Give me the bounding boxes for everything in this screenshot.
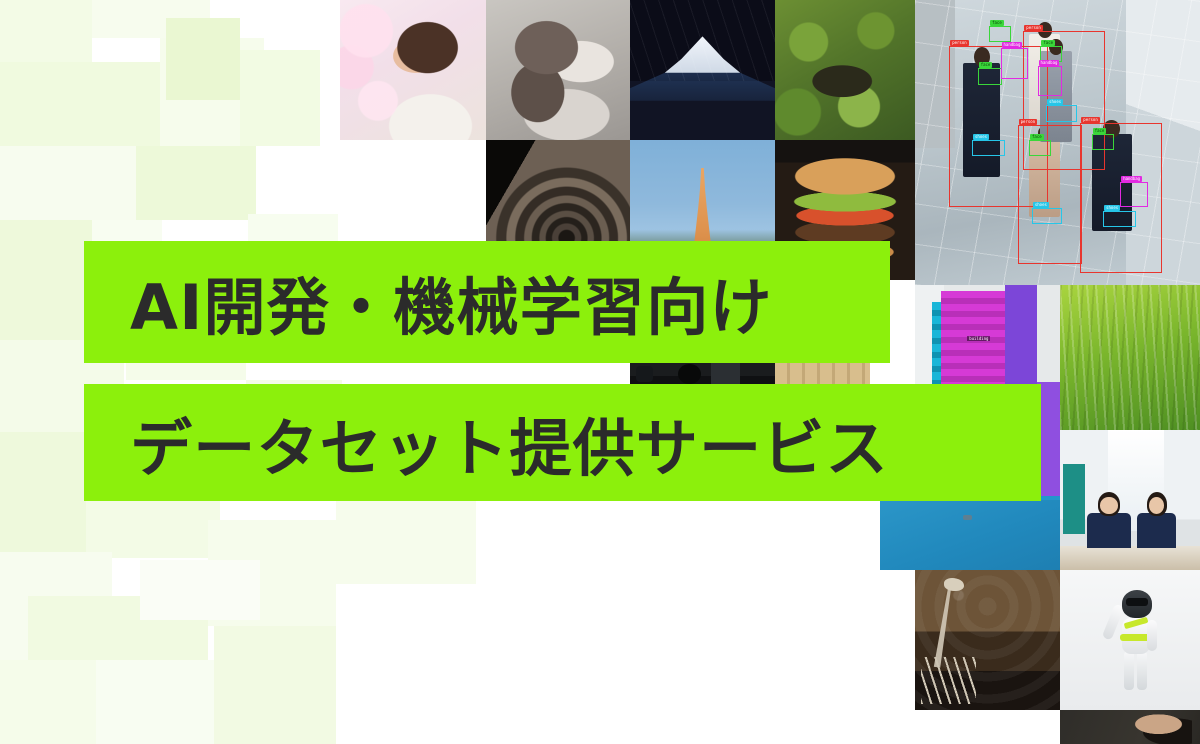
- detection-label: face: [1041, 40, 1055, 46]
- truck-part: [711, 362, 740, 384]
- detection-label: person: [1019, 119, 1037, 125]
- photo-frog-moss: [775, 0, 915, 140]
- truck-part: [678, 364, 701, 384]
- detection-box: handbag: [1001, 48, 1029, 79]
- photo-truck-machinery-art: [630, 360, 775, 386]
- student-uniform: [1137, 513, 1176, 548]
- detection-label: shoes: [1104, 205, 1120, 211]
- headline-banner-secondary: データセット提供サービス: [84, 384, 1041, 501]
- photo-grass-macro: [1060, 285, 1200, 430]
- dinosaur-ribs: [921, 657, 976, 705]
- detection-label: shoes: [1047, 99, 1063, 105]
- photo-wood-pallets-art: [775, 360, 870, 386]
- aerial-object: [963, 515, 972, 520]
- student-face: [1149, 497, 1164, 514]
- detection-box: handbag: [1120, 182, 1148, 207]
- dinosaur-skull: [944, 578, 964, 591]
- photo-classroom-students: [1060, 430, 1200, 570]
- photo-aerial-water: [880, 500, 1060, 570]
- detection-box: face: [1092, 134, 1114, 150]
- headline-line-1: AI開発・機械学習向け: [130, 257, 773, 347]
- photo-person-detection-art: personpersonpersonpersonfacefacefaceface…: [915, 0, 1200, 285]
- detection-label: face: [990, 20, 1004, 26]
- photo-grass-macro-art: [1060, 285, 1200, 430]
- photo-sakura-portrait-art: [340, 0, 486, 140]
- photo-dinosaur-skeleton: [915, 570, 1060, 710]
- classroom-desk: [1060, 546, 1200, 570]
- fuji-base: [630, 56, 775, 101]
- detection-label: person: [1081, 117, 1099, 123]
- photo-dinosaur-skeleton-art: [915, 570, 1060, 710]
- truck-part: [636, 366, 653, 382]
- robot-armr: [1147, 620, 1157, 651]
- photo-person-detection: personpersonpersonpersonfacefacefaceface…: [915, 0, 1200, 285]
- classroom-door: [1063, 464, 1085, 534]
- detection-label: person: [950, 40, 968, 46]
- photo-truck-machinery: [630, 360, 775, 386]
- detection-box: shoes: [1046, 105, 1077, 121]
- photo-collage: personpersonpersonpersonfacefacefaceface…: [0, 0, 1200, 744]
- detection-label: face: [1030, 134, 1044, 140]
- photo-wood-pallets: [775, 360, 870, 386]
- student-face: [1100, 497, 1117, 514]
- segment-class-label: building: [967, 336, 990, 341]
- photo-humanoid-robot: [1060, 570, 1200, 710]
- detection-box: shoes: [1103, 211, 1136, 227]
- detection-label: shoes: [973, 134, 989, 140]
- detection-label: handbag: [1002, 42, 1023, 48]
- photo-portrait-dark-art: [1060, 710, 1200, 744]
- detection-box: shoes: [972, 140, 1005, 156]
- student-figure: [1085, 492, 1133, 548]
- detection-label: face: [979, 62, 993, 68]
- photo-portrait-dark: [1060, 710, 1200, 744]
- hero-banner: personpersonpersonpersonfacefacefaceface…: [0, 0, 1200, 744]
- robot-legr: [1137, 651, 1147, 690]
- dinosaur-neck: [931, 581, 956, 669]
- headline-line-2: データセット提供サービス: [130, 398, 889, 488]
- photo-frog-moss-art: [775, 0, 915, 140]
- detection-label: face: [1093, 128, 1107, 134]
- detection-box: shoes: [1032, 208, 1063, 224]
- photo-aerial-water-art: [880, 500, 1060, 570]
- detection-box: face: [1029, 140, 1051, 156]
- fuji-snow: [665, 36, 740, 72]
- detection-box: face: [989, 26, 1011, 42]
- student-figure: [1136, 492, 1178, 548]
- student-uniform: [1087, 513, 1131, 548]
- photo-sakura-portrait: [340, 0, 486, 140]
- detection-label: handbag: [1121, 176, 1142, 182]
- headline-banner-primary: AI開発・機械学習向け: [84, 241, 890, 363]
- photo-hippo-splash: [486, 0, 630, 140]
- detection-box: face: [978, 68, 1003, 84]
- photo-mount-fuji: [630, 0, 775, 140]
- portrait-profile: [1130, 714, 1192, 744]
- photo-humanoid-robot-art: [1060, 570, 1200, 710]
- photo-hippo-splash-art: [486, 0, 630, 140]
- detection-label: person: [1024, 25, 1042, 31]
- detection-label: handbag: [1039, 60, 1060, 66]
- photo-classroom-students-art: [1060, 430, 1200, 570]
- detection-box: handbag: [1038, 66, 1063, 97]
- photo-mount-fuji-art: [630, 0, 775, 140]
- robot-visor: [1126, 598, 1148, 606]
- robot-legl: [1124, 651, 1134, 690]
- detection-label: shoes: [1033, 202, 1049, 208]
